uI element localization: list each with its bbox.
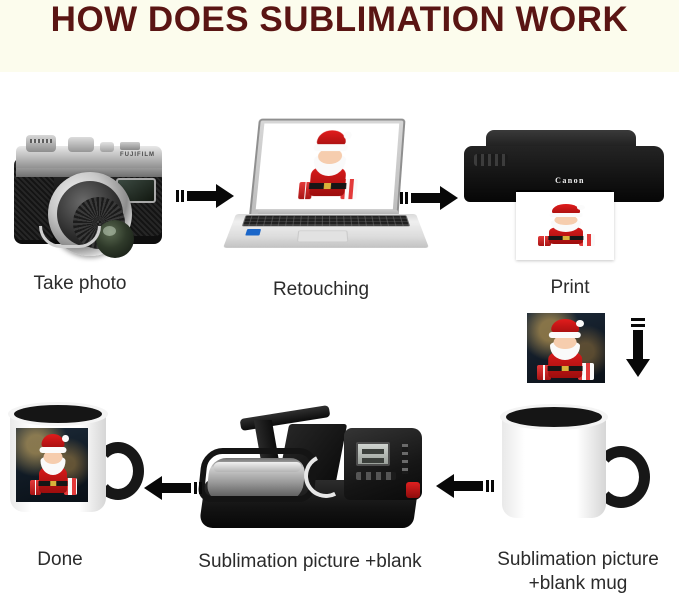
laptop-icon: [232, 118, 412, 263]
mug-interior: [14, 405, 102, 423]
press-digital-display: [356, 442, 390, 466]
laptop-screen: [256, 123, 400, 209]
press-buttons: [356, 472, 396, 480]
press-indicator-lights: [402, 444, 408, 474]
santa-hat-pompom: [343, 132, 352, 140]
camera-lens-glass: [96, 220, 134, 258]
arrow-blankmug-to-press: [436, 472, 498, 500]
press-shell: [197, 448, 319, 502]
arrow-tick: [486, 480, 489, 492]
santa-hat-brim: [40, 447, 67, 453]
arrow-tick: [631, 318, 645, 321]
arrow-tick: [405, 192, 408, 204]
caption-blank-mug: Sublimation picture +blank mug: [478, 548, 678, 596]
arrow-tick: [199, 482, 202, 494]
arrow-shaft: [161, 483, 191, 493]
camera-brand-label: FUJIFILM: [120, 152, 158, 158]
santa-belt-buckle: [562, 366, 569, 371]
laptop-base: [223, 214, 429, 248]
arrow-printer-to-transfer: [628, 318, 658, 380]
arrow-shaft: [633, 330, 643, 360]
santa-hat-pompom: [577, 205, 585, 210]
camera-icon: FUJIFILM: [8, 118, 168, 258]
arrow-shaft: [411, 193, 441, 203]
santa-hat-pompom: [576, 320, 584, 327]
arrow-tick: [631, 324, 645, 327]
printer-control-panel: [474, 154, 508, 166]
caption-retouching: Retouching: [226, 278, 416, 302]
arrow-tick: [400, 192, 403, 204]
finished-mug-icon: [6, 398, 156, 538]
arrow-tick: [176, 190, 179, 202]
laptop-lid: [249, 119, 406, 217]
intel-sticker-icon: [245, 229, 261, 235]
caption-done: Done: [0, 548, 120, 572]
mug-heat-press-icon: [196, 406, 436, 541]
canon-logo: Canon: [544, 176, 596, 186]
arrow-tick: [194, 482, 197, 494]
mug-printed-artwork: [16, 428, 88, 502]
santa-artwork: [535, 319, 595, 383]
press-control-panel: [344, 428, 422, 500]
santa-hat-brim: [314, 144, 348, 150]
arrow-laptop-to-printer: [400, 184, 460, 212]
laptop-trackpad: [297, 230, 349, 242]
santa-belt-buckle: [563, 236, 570, 239]
santa-transfer-image: [519, 313, 613, 385]
arrow-camera-to-laptop: [176, 182, 236, 210]
arrow-shaft: [453, 481, 483, 491]
santa-artwork: [28, 434, 78, 498]
santa-image-on-print: [536, 204, 597, 248]
arrow-tick: [491, 480, 494, 492]
camera-hotshoe: [120, 142, 140, 150]
camera-shutter-button: [100, 142, 114, 152]
camera-dial-left: [26, 135, 56, 152]
arrow-shaft: [187, 191, 217, 201]
arrow-tick: [181, 190, 184, 202]
santa-hat-brim: [550, 213, 583, 217]
printer-icon: Canon: [460, 130, 670, 265]
page-title: HOW DOES SUBLIMATION WORK: [0, 0, 679, 42]
arrow-head: [436, 474, 454, 498]
printed-sheet: [516, 192, 614, 260]
caption-take-photo: Take photo: [0, 272, 160, 296]
caption-print: Print: [500, 276, 640, 300]
mug-interior: [506, 407, 602, 427]
santa-hat-pompom: [62, 435, 69, 442]
camera-dial-right: [68, 137, 94, 152]
arrow-head: [440, 186, 458, 210]
blank-mug-icon: [496, 398, 661, 543]
santa-belt-buckle: [50, 481, 56, 486]
santa-hat-brim: [549, 332, 581, 338]
laptop-keyboard: [242, 215, 410, 226]
santa-belt-buckle: [324, 183, 331, 189]
caption-heat-press: Sublimation picture +blank: [175, 550, 445, 574]
press-power-button: [406, 482, 420, 498]
arrow-head: [626, 359, 650, 377]
santa-image-on-screen: [295, 130, 364, 202]
